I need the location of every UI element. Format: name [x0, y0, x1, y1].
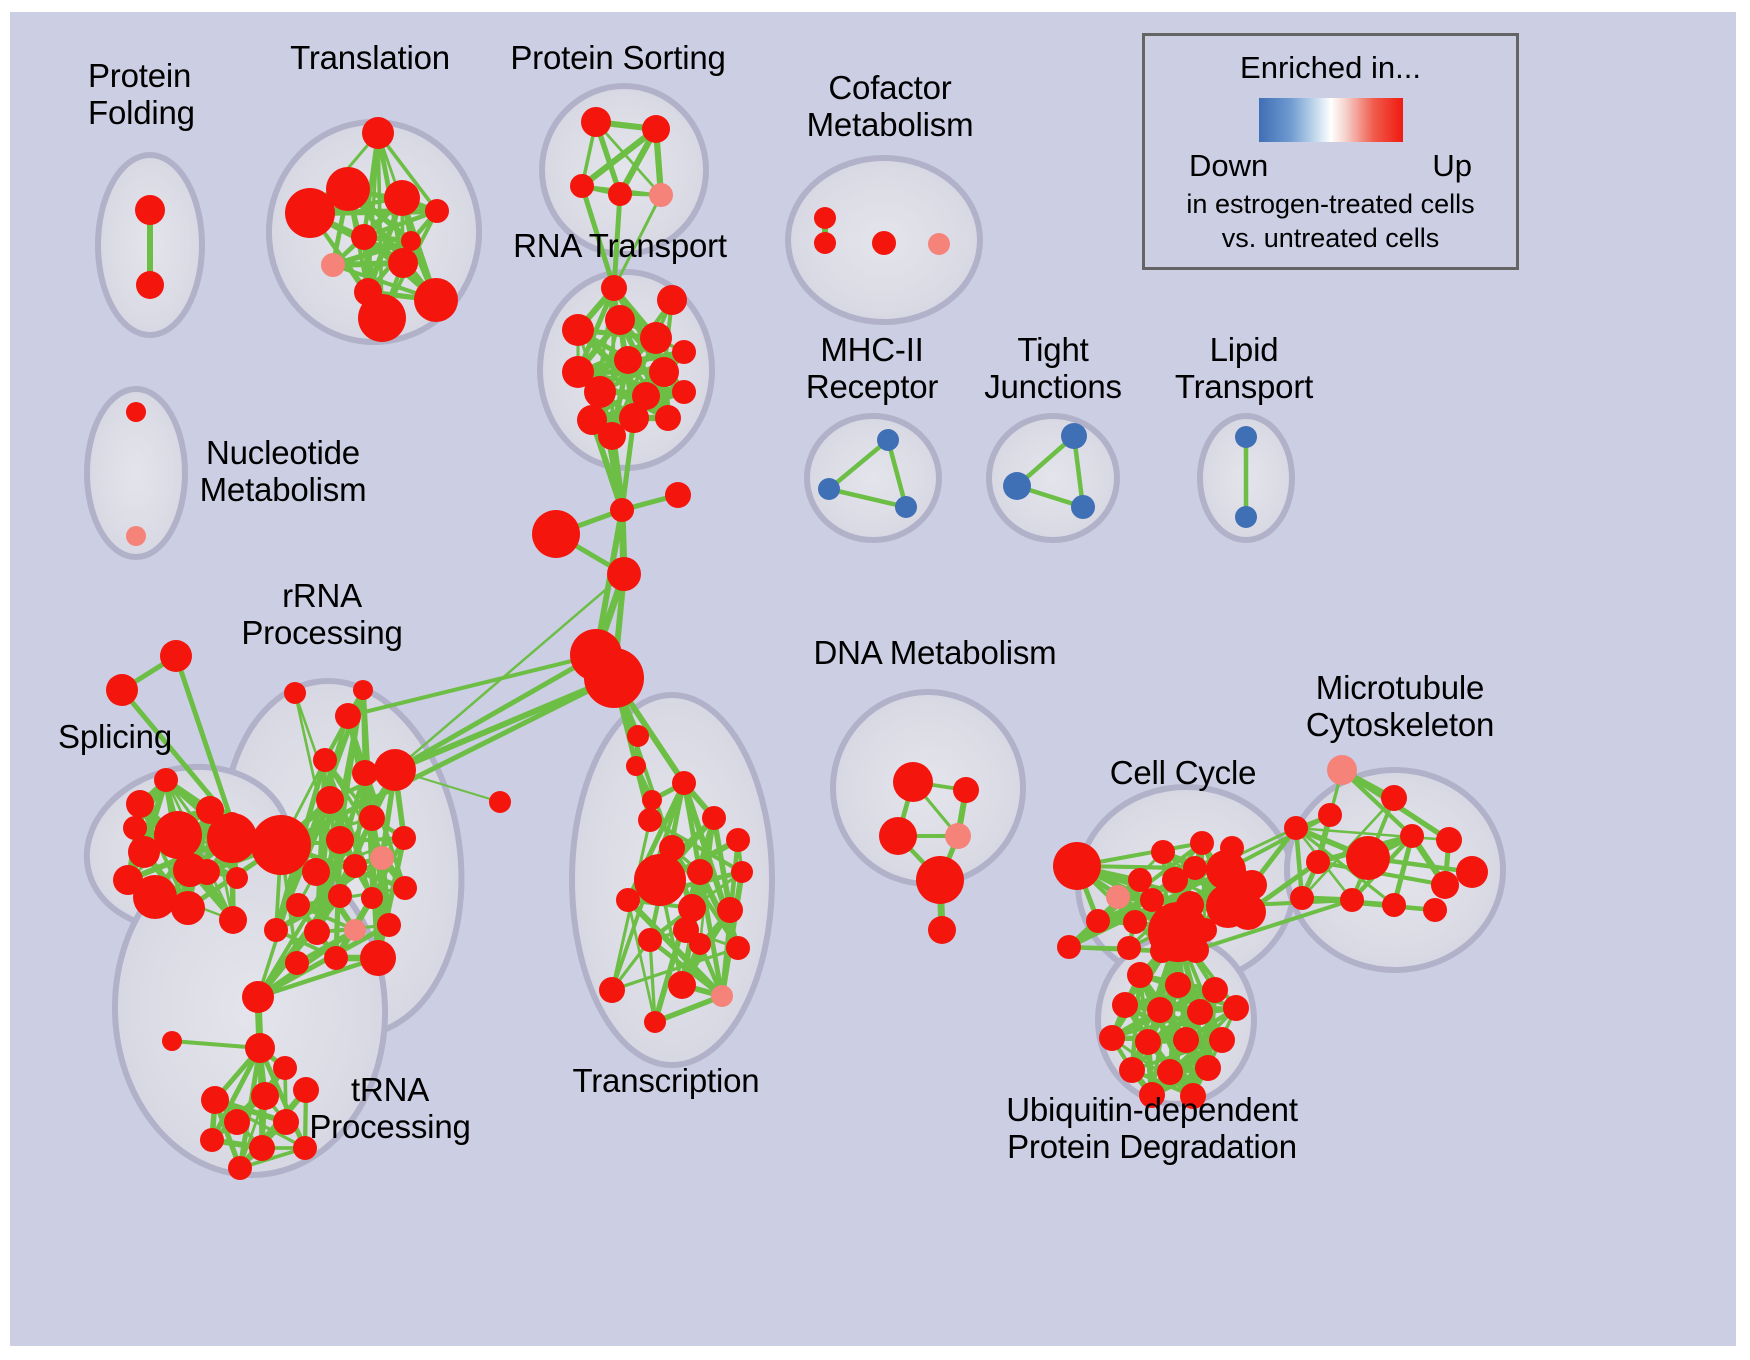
cluster-label-protein-folding: ProteinFolding: [88, 58, 195, 132]
legend-box: Enriched in... Down Up in estrogen-treat…: [1142, 33, 1519, 270]
network-node[interactable]: [1127, 962, 1153, 988]
network-node[interactable]: [601, 275, 627, 301]
network-node[interactable]: [1099, 1025, 1125, 1051]
network-node[interactable]: [638, 808, 662, 832]
network-node[interactable]: [351, 224, 377, 250]
network-node[interactable]: [324, 946, 348, 970]
network-node[interactable]: [634, 854, 686, 906]
cluster-label-dna-metabolism: DNA Metabolism: [814, 635, 1057, 672]
cluster-label-line: Receptor: [806, 369, 938, 406]
network-node[interactable]: [642, 115, 670, 143]
network-node[interactable]: [1382, 893, 1406, 917]
network-node[interactable]: [1456, 856, 1488, 888]
cluster-label-nucleotide-metabolism: NucleotideMetabolism: [200, 435, 367, 509]
network-node[interactable]: [1306, 850, 1330, 874]
network-node[interactable]: [126, 526, 146, 546]
network-node[interactable]: [1128, 868, 1152, 892]
network-node[interactable]: [1148, 902, 1208, 962]
network-node[interactable]: [642, 790, 662, 810]
network-node[interactable]: [370, 846, 394, 870]
network-node[interactable]: [640, 322, 672, 354]
cluster-label-line: Metabolism: [200, 472, 367, 509]
cluster-label-microtubule-cytoskeleton: MicrotubuleCytoskeleton: [1306, 670, 1494, 744]
network-node[interactable]: [489, 791, 511, 813]
network-node[interactable]: [668, 971, 696, 999]
network-node[interactable]: [1209, 1027, 1235, 1053]
network-node[interactable]: [608, 182, 632, 206]
legend-subtitle: in estrogen-treated cellsvs. untreated c…: [1145, 188, 1516, 256]
cluster-label-line: Cytoskeleton: [1306, 707, 1494, 744]
network-node[interactable]: [126, 402, 146, 422]
cluster-label-line: DNA Metabolism: [814, 635, 1057, 672]
network-node[interactable]: [605, 305, 635, 335]
network-node[interactable]: [154, 811, 202, 859]
cluster-label-line: Transcription: [573, 1063, 760, 1100]
cluster-label-line: Folding: [88, 95, 195, 132]
network-node[interactable]: [285, 188, 335, 238]
network-node[interactable]: [1173, 1027, 1199, 1053]
legend-title: Enriched in...: [1145, 50, 1516, 86]
network-node[interactable]: [895, 496, 917, 518]
legend-color-bar: [1259, 98, 1403, 142]
cluster-label-line: tRNA: [309, 1072, 470, 1109]
network-node[interactable]: [401, 231, 421, 251]
cluster-label-line: Processing: [309, 1109, 470, 1146]
network-node[interactable]: [388, 248, 418, 278]
network-node[interactable]: [726, 936, 750, 960]
network-node[interactable]: [814, 232, 836, 254]
network-node[interactable]: [160, 640, 192, 672]
network-node[interactable]: [245, 1033, 275, 1063]
network-node[interactable]: [228, 1156, 252, 1180]
network-edge: [395, 655, 596, 770]
network-node[interactable]: [945, 823, 971, 849]
network-node[interactable]: [316, 786, 344, 814]
network-node[interactable]: [711, 985, 733, 1007]
network-node[interactable]: [222, 812, 242, 832]
network-node[interactable]: [273, 1109, 299, 1135]
network-node[interactable]: [1119, 1057, 1145, 1083]
network-node[interactable]: [717, 897, 743, 923]
cluster-ellipse-mhc-ii-receptor: [807, 416, 939, 540]
network-node[interactable]: [249, 1135, 275, 1161]
network-node[interactable]: [1187, 999, 1213, 1025]
network-node[interactable]: [353, 680, 373, 700]
cluster-label-trna-processing: tRNAProcessing: [309, 1072, 470, 1146]
network-node[interactable]: [584, 376, 616, 408]
network-node[interactable]: [393, 876, 417, 900]
network-node[interactable]: [343, 854, 367, 878]
network-node[interactable]: [425, 199, 449, 223]
cluster-label-mhc-ii-receptor: MHC-IIReceptor: [806, 332, 938, 406]
cluster-label-lipid-transport: LipidTransport: [1175, 332, 1313, 406]
network-node[interactable]: [264, 918, 288, 942]
network-node[interactable]: [649, 357, 679, 387]
network-node[interactable]: [352, 760, 378, 786]
legend-subtitle-line: in estrogen-treated cells: [1145, 188, 1516, 222]
cluster-label-rrna-processing: rRNAProcessing: [241, 578, 402, 652]
network-node[interactable]: [313, 748, 337, 772]
cluster-label-rna-transport: RNA Transport: [513, 228, 727, 265]
network-node[interactable]: [879, 817, 917, 855]
network-node[interactable]: [655, 405, 681, 431]
network-node[interactable]: [1381, 785, 1407, 811]
network-node[interactable]: [1220, 836, 1244, 860]
network-node[interactable]: [392, 826, 416, 850]
network-node[interactable]: [928, 233, 950, 255]
network-node[interactable]: [196, 796, 224, 824]
cluster-label-line: RNA Transport: [513, 228, 727, 265]
cluster-label-line: MHC-II: [806, 332, 938, 369]
figure-canvas: ProteinFoldingTranslationProtein Sorting…: [0, 0, 1750, 1360]
network-node[interactable]: [1151, 840, 1175, 864]
network-node[interactable]: [224, 1109, 250, 1135]
network-node[interactable]: [1123, 910, 1147, 934]
network-node[interactable]: [818, 478, 840, 500]
network-node[interactable]: [814, 207, 836, 229]
network-node[interactable]: [657, 285, 687, 315]
network-node[interactable]: [1106, 885, 1130, 909]
network-node[interactable]: [251, 815, 311, 875]
network-node[interactable]: [1117, 936, 1141, 960]
network-node[interactable]: [226, 867, 248, 889]
network-node[interactable]: [1284, 816, 1308, 840]
network-node[interactable]: [687, 859, 713, 885]
network-node[interactable]: [1165, 972, 1191, 998]
network-node[interactable]: [1053, 842, 1101, 890]
network-node[interactable]: [1318, 803, 1342, 827]
network-node[interactable]: [1135, 1029, 1161, 1055]
cluster-label-cell-cycle: Cell Cycle: [1110, 755, 1257, 792]
cluster-label-line: Translation: [290, 40, 450, 77]
network-node[interactable]: [374, 749, 416, 791]
cluster-label-line: Lipid: [1175, 332, 1313, 369]
legend-up-label: Up: [1432, 148, 1472, 184]
network-node[interactable]: [1003, 472, 1031, 500]
network-node[interactable]: [570, 174, 594, 198]
network-node[interactable]: [1400, 824, 1424, 848]
network-node[interactable]: [584, 648, 644, 708]
network-node[interactable]: [304, 919, 330, 945]
network-node[interactable]: [194, 859, 220, 885]
network-node[interactable]: [614, 346, 642, 374]
network-node[interactable]: [414, 278, 458, 322]
cluster-label-ubiquitin-protein-degradation: Ubiquitin-dependentProtein Degradation: [1006, 1092, 1298, 1166]
cluster-label-translation: Translation: [290, 40, 450, 77]
network-node[interactable]: [665, 482, 691, 508]
network-node[interactable]: [562, 314, 594, 346]
network-node[interactable]: [644, 1011, 666, 1033]
cluster-label-line: Protein Sorting: [510, 40, 725, 77]
network-node[interactable]: [359, 805, 385, 831]
network-node[interactable]: [673, 917, 699, 943]
cluster-label-protein-sorting: Protein Sorting: [510, 40, 725, 77]
network-node[interactable]: [1346, 836, 1390, 880]
network-node[interactable]: [916, 856, 964, 904]
network-node[interactable]: [1112, 992, 1138, 1018]
cluster-label-line: Ubiquitin-dependent: [1006, 1092, 1298, 1129]
network-node[interactable]: [610, 498, 634, 522]
network-node[interactable]: [362, 117, 394, 149]
network-node[interactable]: [326, 826, 354, 854]
network-node[interactable]: [1190, 831, 1214, 855]
cluster-label-cofactor-metabolism: CofactorMetabolism: [807, 70, 974, 144]
cluster-label-line: Tight: [984, 332, 1122, 369]
network-node[interactable]: [171, 891, 205, 925]
cluster-label-line: Transport: [1175, 369, 1313, 406]
network-node[interactable]: [626, 756, 646, 776]
network-node[interactable]: [877, 429, 899, 451]
network-node[interactable]: [321, 253, 345, 277]
network-node[interactable]: [599, 977, 625, 1003]
network-node[interactable]: [154, 768, 178, 792]
network-node[interactable]: [627, 725, 649, 747]
network-node[interactable]: [893, 762, 933, 802]
network-node[interactable]: [284, 682, 306, 704]
network-node[interactable]: [1436, 827, 1462, 853]
network-node[interactable]: [126, 790, 154, 818]
network-node[interactable]: [133, 875, 177, 919]
network-node[interactable]: [136, 271, 164, 299]
network-node[interactable]: [106, 674, 138, 706]
legend-down-label: Down: [1189, 148, 1268, 184]
network-node[interactable]: [128, 836, 160, 868]
network-node[interactable]: [1327, 755, 1357, 785]
cluster-label-line: Splicing: [58, 719, 172, 756]
network-node[interactable]: [200, 1128, 224, 1152]
cluster-label-line: Junctions: [984, 369, 1122, 406]
cluster-label-transcription: Transcription: [573, 1063, 760, 1100]
network-node[interactable]: [384, 180, 420, 216]
network-node[interactable]: [1057, 935, 1081, 959]
cluster-label-splicing: Splicing: [58, 719, 172, 756]
network-node[interactable]: [953, 777, 979, 803]
network-node[interactable]: [1086, 909, 1110, 933]
network-node[interactable]: [335, 703, 361, 729]
network-node[interactable]: [726, 828, 750, 852]
network-node[interactable]: [1071, 495, 1095, 519]
network-node[interactable]: [242, 981, 274, 1013]
cluster-label-line: Cell Cycle: [1110, 755, 1257, 792]
network-node[interactable]: [649, 183, 673, 207]
cluster-label-line: Cofactor: [807, 70, 974, 107]
network-node[interactable]: [1230, 894, 1266, 930]
network-node[interactable]: [286, 893, 310, 917]
network-node[interactable]: [672, 380, 696, 404]
network-node[interactable]: [616, 888, 640, 912]
network-node[interactable]: [201, 1086, 229, 1114]
legend-subtitle-line: vs. untreated cells: [1145, 222, 1516, 256]
network-node[interactable]: [1223, 995, 1249, 1021]
cluster-label-line: Microtubule: [1306, 670, 1494, 707]
network-node[interactable]: [162, 1031, 182, 1051]
network-node[interactable]: [1183, 856, 1207, 880]
network-node[interactable]: [1061, 423, 1087, 449]
network-node[interactable]: [251, 1082, 279, 1110]
network-node[interactable]: [638, 928, 662, 952]
network-node[interactable]: [285, 951, 309, 975]
network-node[interactable]: [360, 940, 396, 976]
network-node[interactable]: [581, 107, 611, 137]
cluster-label-line: Processing: [241, 615, 402, 652]
network-node[interactable]: [135, 195, 165, 225]
network-node[interactable]: [872, 231, 896, 255]
network-node[interactable]: [607, 557, 641, 591]
network-node[interactable]: [702, 806, 726, 830]
network-node[interactable]: [328, 884, 352, 908]
network-node[interactable]: [1147, 997, 1173, 1023]
network-node[interactable]: [1157, 1059, 1183, 1085]
network-node[interactable]: [1423, 898, 1447, 922]
network-node[interactable]: [344, 919, 366, 941]
network-node[interactable]: [532, 510, 580, 558]
network-node[interactable]: [1195, 1055, 1221, 1081]
network-node[interactable]: [361, 887, 383, 909]
network-node[interactable]: [273, 1056, 297, 1080]
network-node[interactable]: [928, 916, 956, 944]
cluster-label-tight-junctions: TightJunctions: [984, 332, 1122, 406]
network-node[interactable]: [1235, 506, 1257, 528]
cluster-label-line: Metabolism: [807, 107, 974, 144]
cluster-label-line: Protein: [88, 58, 195, 95]
network-node[interactable]: [731, 861, 753, 883]
network-node[interactable]: [598, 422, 626, 450]
cluster-label-line: Nucleotide: [200, 435, 367, 472]
network-node[interactable]: [1340, 888, 1364, 912]
network-node[interactable]: [123, 816, 147, 840]
network-node[interactable]: [672, 771, 696, 795]
network-node[interactable]: [358, 294, 406, 342]
network-node[interactable]: [302, 858, 330, 886]
network-node[interactable]: [1431, 871, 1459, 899]
network-node[interactable]: [1235, 426, 1257, 448]
network-node[interactable]: [1290, 886, 1314, 910]
network-node[interactable]: [672, 340, 696, 364]
network-node[interactable]: [1202, 977, 1228, 1003]
cluster-label-line: rRNA: [241, 578, 402, 615]
network-node[interactable]: [219, 906, 247, 934]
network-node[interactable]: [377, 913, 401, 937]
cluster-label-line: Protein Degradation: [1006, 1129, 1298, 1166]
